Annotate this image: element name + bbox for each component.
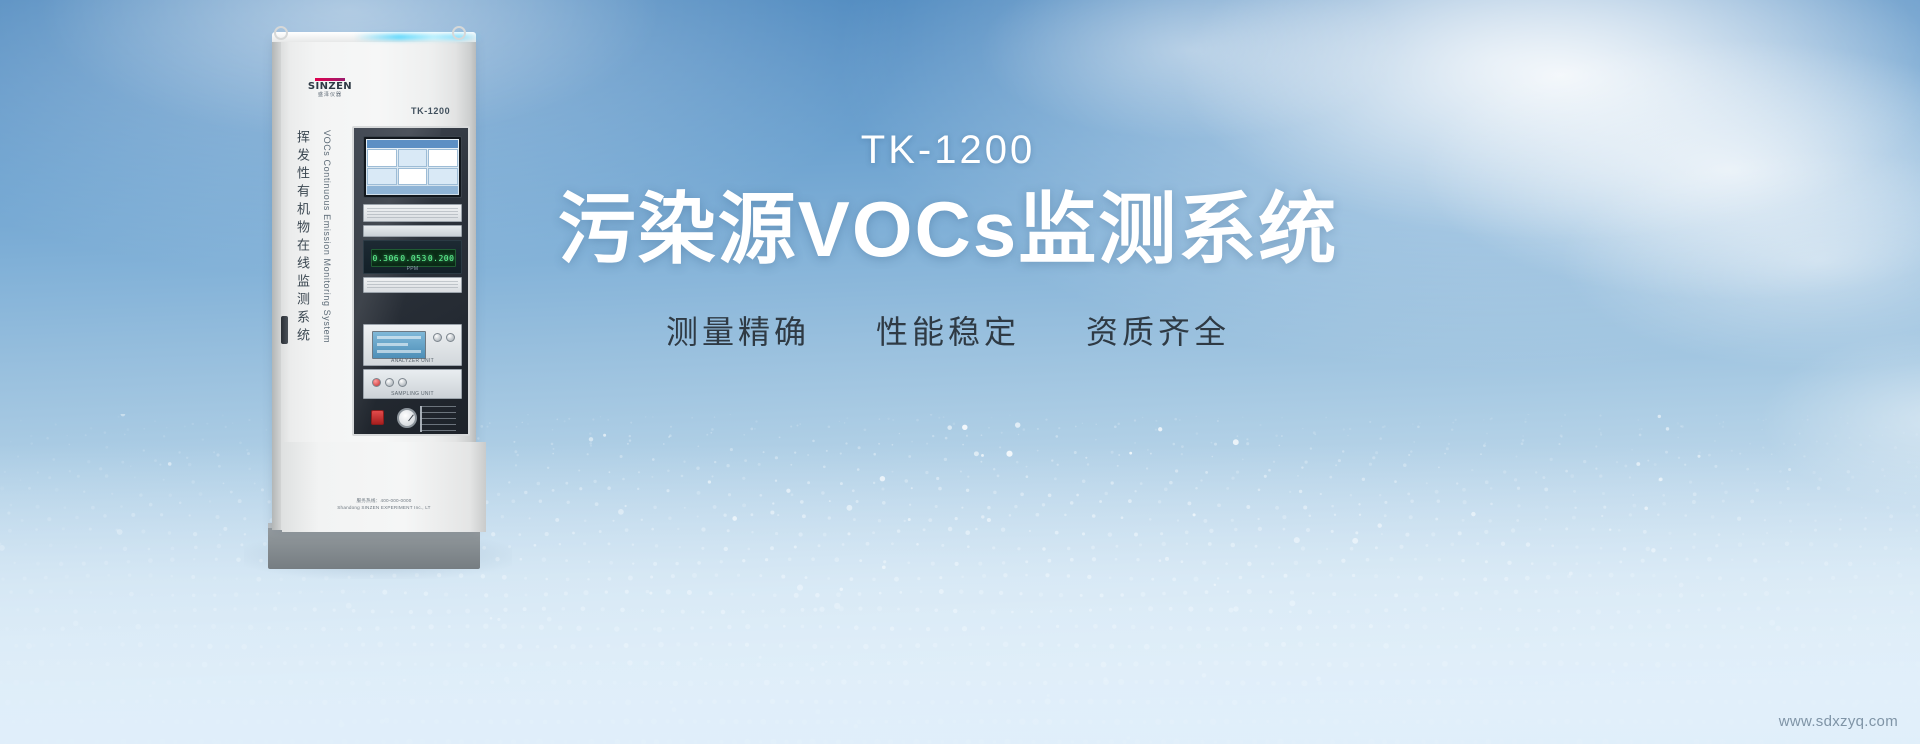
cabinet-lower-panel: 服务热线：400-000-0000 Shandong SINZEN EXPERI… [282,442,486,532]
control-knob [385,378,394,387]
cabinet-vertical-chinese-label: 挥发性有机物在线监测系统 [296,130,309,346]
lcd-line [377,336,421,339]
hmi-cell [398,168,428,186]
control-knob [433,333,442,342]
feature-item-1: 测量精确 [666,307,810,353]
emergency-stop-button [371,410,384,425]
vent-grill [367,281,458,289]
readout-value-3: 0.200 [428,254,455,263]
site-watermark: www.sdxzyq.com [1779,713,1898,730]
sampling-knob-group [372,378,407,387]
analyzer-lcd-display [372,331,426,359]
cabinet-vertical-english-label: VOCs Continuous Emission Monitoring Syst… [322,130,332,343]
cabinet-body: SINZEN 盛泽仪器 TK-1200 挥发性有机物在线监测系统 VOCs Co… [272,38,476,530]
gas-pipe-assembly [420,406,456,432]
control-knob-group [433,333,455,342]
cabinet-model-label: TK-1200 [411,106,450,116]
detector-module: 0.306 0.053 0.200 PPM [363,240,462,274]
vocs-analyzer-cabinet-image: SINZEN 盛泽仪器 TK-1200 挥发性有机物在线监测系统 VOCs Co… [262,28,492,558]
banner-headline: 污染源VOCs监测系统 [548,186,1348,273]
instrument-module [363,225,462,237]
brand-chinese-text: 盛泽仪器 [297,93,363,98]
brand-name-text: SINZEN [297,82,363,92]
readout-value-2: 0.053 [400,254,427,263]
banner-copy-block: TK-1200 污染源VOCs监测系统 测量精确 性能稳定 资质齐全 [548,128,1348,353]
cabinet-footer-line-2: Shandong SINZEN EXPERIMENT Inc., LT [282,505,486,512]
module-caption: ANALYZER UNIT [364,358,461,364]
hmi-cell [428,149,458,167]
hmi-cell [428,168,458,186]
readout-unit-caption: PPM [364,266,461,272]
cabinet-footer-text: 服务热线：400-000-0000 Shandong SINZEN EXPERI… [282,498,486,511]
door-handle [281,316,288,344]
readout-value-1: 0.306 [373,254,400,263]
instrument-module [363,204,462,222]
analyzer-module: ANALYZER UNIT [363,324,462,366]
hmi-screen [366,139,459,195]
control-knob [398,378,407,387]
pressure-gauge [397,408,417,428]
product-model-heading: TK-1200 [548,128,1348,172]
control-knob [446,333,455,342]
valve-gauge-area [363,404,462,434]
lifting-eye-bolt [452,26,466,40]
sampling-module: SAMPLING UNIT [363,369,462,399]
instrument-module [363,277,462,293]
cabinet-footer-line-1: 服务热线：400-000-0000 [282,498,486,505]
hmi-title-bar [367,140,458,148]
feature-item-2: 性能稳定 [876,307,1020,353]
module-caption: SAMPLING UNIT [364,391,461,397]
banner-stage: SINZEN 盛泽仪器 TK-1200 挥发性有机物在线监测系统 VOCs Co… [0,0,1920,744]
cabinet-left-edge [272,38,281,530]
hmi-touch-panel [363,136,462,198]
cabinet-brand-block: SINZEN 盛泽仪器 [297,78,363,98]
feature-list: 测量精确 性能稳定 资质齐全 [548,307,1348,353]
hmi-cell [367,168,397,186]
hmi-status-bar [367,186,458,194]
power-knob [372,378,381,387]
vent-grill [367,208,458,218]
hmi-cell [398,149,428,167]
lifting-eye-bolt [274,26,288,40]
feature-item-3: 资质齐全 [1086,307,1230,353]
lcd-line [377,350,421,353]
cabinet-glass-door: 0.306 0.053 0.200 PPM [352,126,470,436]
digital-readout: 0.306 0.053 0.200 [371,249,456,267]
hmi-cell [367,149,397,167]
lcd-line [377,343,408,346]
